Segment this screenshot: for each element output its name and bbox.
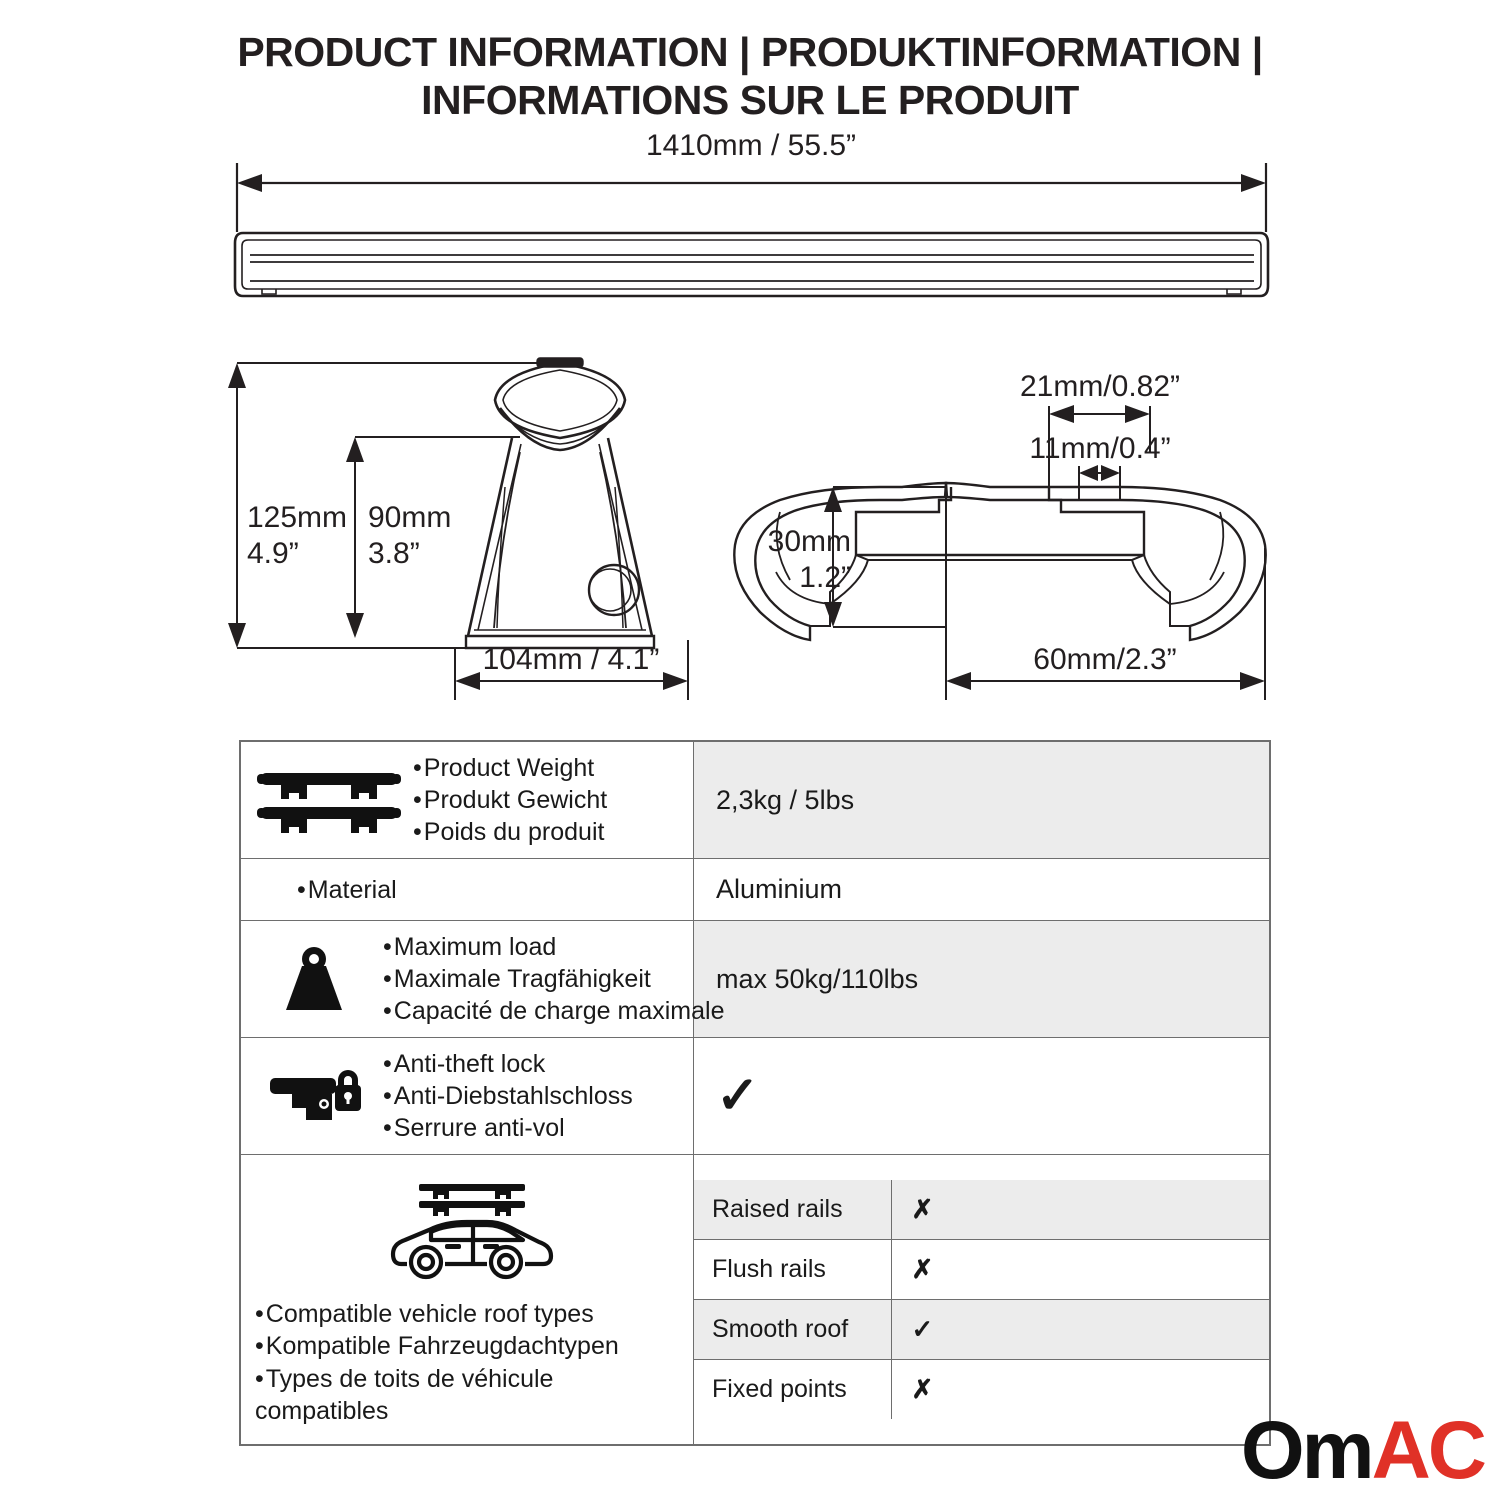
side-width-label: 104mm / 4.1”	[483, 643, 660, 676]
roof-type-label: Fixed points	[694, 1360, 891, 1420]
spec-label: Types de toits de véhicule compatibles	[255, 1363, 687, 1428]
spec-label-group: Product Weight Produkt Gewicht Poids du …	[413, 752, 607, 848]
product-spec-table: Product Weight Produkt Gewicht Poids du …	[239, 740, 1271, 1446]
spec-value: Aluminium	[694, 859, 1270, 921]
roof-type-label: Flush rails	[694, 1240, 891, 1300]
table-row: Maximum load Maximale Tragfähigkeit Capa…	[241, 921, 1270, 1038]
spec-label: Compatible vehicle roof types	[255, 1298, 687, 1331]
spec-label-group: Compatible vehicle roof types Kompatible…	[255, 1298, 687, 1428]
table-row: Material Aluminium	[241, 859, 1270, 921]
spec-label-group: Material	[297, 874, 397, 906]
roof-type-mark: ✗	[891, 1180, 1269, 1240]
spec-value: 2,3kg / 5lbs	[694, 742, 1270, 859]
roof-type-mark: ✗	[891, 1240, 1269, 1300]
roof-type-mark: ✗	[891, 1360, 1269, 1420]
cs-slot-inner-label: 11mm/0.4”	[1029, 432, 1170, 465]
roof-type-label: Raised rails	[694, 1180, 891, 1240]
side-height-total-in-label: 4.9”	[247, 537, 299, 570]
bar-length-dimension-label: 1410mm / 55.5”	[646, 129, 856, 162]
spec-value: max 50kg/110lbs	[694, 921, 1270, 1038]
spec-label: Produkt Gewicht	[413, 784, 607, 816]
table-row: Product Weight Produkt Gewicht Poids du …	[241, 742, 1270, 859]
cs-slot-outer-label: 21mm/0.82”	[1020, 370, 1180, 403]
weight-icon	[255, 946, 373, 1012]
spec-label-group: Anti-theft lock Anti-Diebstahlschloss Se…	[383, 1048, 633, 1144]
side-height-total-mm-label: 125mm	[247, 501, 347, 534]
roof-type-row: Fixed points ✗	[694, 1360, 1269, 1420]
spec-label-group: Maximum load Maximale Tragfähigkeit Capa…	[383, 931, 725, 1027]
spec-label: Product Weight	[413, 752, 607, 784]
technical-drawings: 1410mm / 55.5”	[0, 0, 1500, 730]
spec-label: Anti-Diebstahlschloss	[383, 1080, 633, 1112]
table-row: Anti-theft lock Anti-Diebstahlschloss Se…	[241, 1038, 1270, 1155]
cs-width-label: 60mm/2.3”	[1033, 643, 1176, 676]
roof-type-label: Smooth roof	[694, 1300, 891, 1360]
cs-height-mm-label: 30mm	[768, 525, 851, 558]
cs-height-in-label: 1.2”	[799, 561, 851, 594]
side-height-inner-mm-label: 90mm	[368, 501, 451, 534]
mount-foot-side-drawing	[466, 358, 654, 648]
spec-label: Maximum load	[383, 931, 725, 963]
roof-type-mark: ✓	[891, 1300, 1269, 1360]
logo-text-red: AC	[1372, 1405, 1484, 1496]
lock-icon	[255, 1064, 373, 1128]
omac-logo: OmAC	[1241, 1410, 1484, 1492]
roof-type-row: Raised rails ✗	[694, 1180, 1269, 1240]
spec-label: Kompatible Fahrzeugdachtypen	[255, 1330, 687, 1363]
spec-label: Anti-theft lock	[383, 1048, 633, 1080]
anti-theft-check-mark: ✓	[716, 1067, 760, 1125]
roof-type-row: Flush rails ✗	[694, 1240, 1269, 1300]
side-height-inner-in-label: 3.8”	[368, 537, 420, 570]
car-with-crossbars-icon	[255, 1172, 687, 1288]
spec-label: Poids du produit	[413, 816, 607, 848]
spec-label: Material	[297, 874, 397, 906]
roof-type-matrix: Raised rails ✗ Flush rails ✗ Smooth roof…	[694, 1155, 1270, 1445]
logo-text-dark: Om	[1241, 1405, 1372, 1496]
roof-bar-length-drawing	[235, 163, 1268, 296]
roof-type-row: Smooth roof ✓	[694, 1300, 1269, 1360]
spec-label: Capacité de charge maximale	[383, 995, 725, 1027]
spec-label: Serrure anti-vol	[383, 1112, 633, 1144]
table-row: Compatible vehicle roof types Kompatible…	[241, 1155, 1270, 1445]
spec-label: Maximale Tragfähigkeit	[383, 963, 725, 995]
crossbars-icon	[255, 767, 403, 833]
